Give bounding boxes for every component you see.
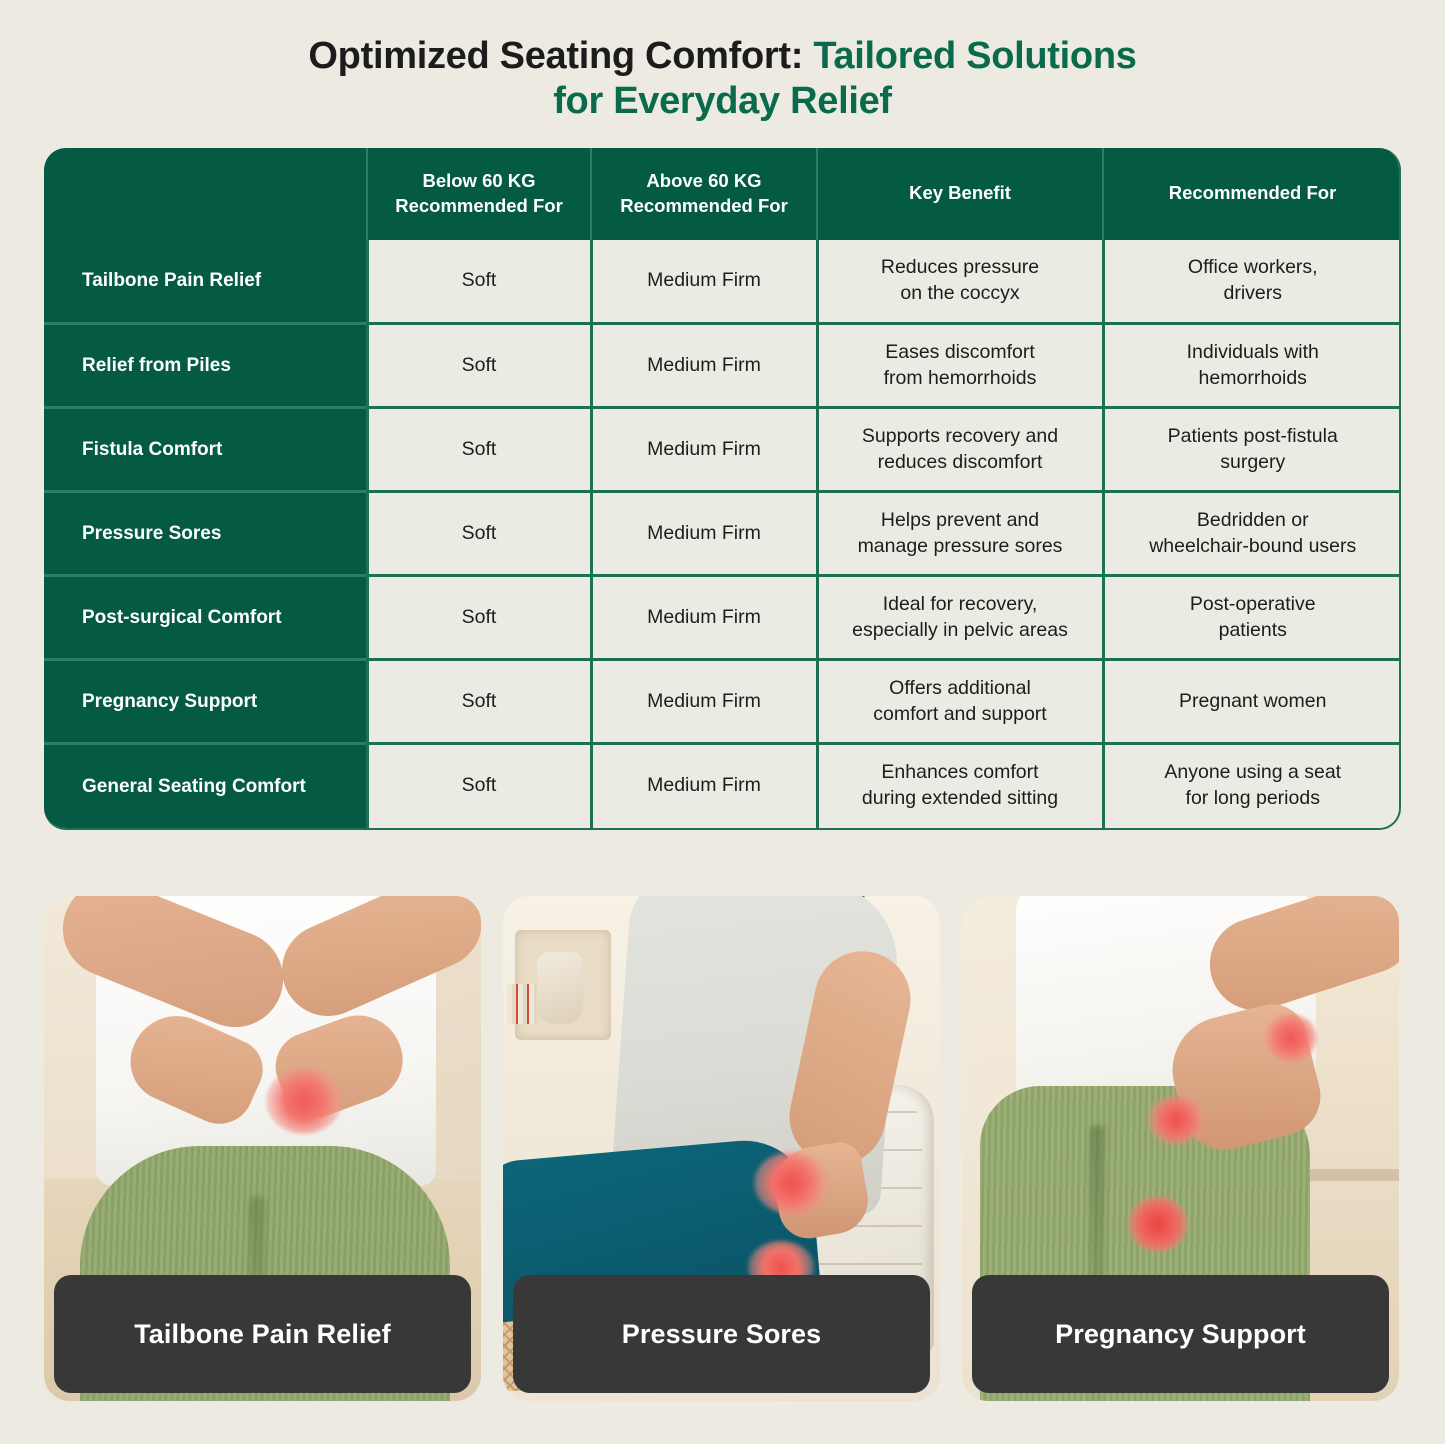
cell-key-benefit-line1: Eases discomfort [831,340,1090,366]
pain-marker-pelvis [1148,1096,1204,1144]
cell-key-benefit-line2: on the coccyx [831,281,1090,307]
table-header-row: Below 60 KG Recommended For Above 60 KG … [44,148,1401,240]
title-part-green: Tailored Solutions [803,35,1137,77]
column-header-recommended-for: Recommended For [1103,148,1401,240]
table-row: Fistula Comfort Soft Medium Firm Support… [44,408,1401,492]
column-header-above-60kg-line1: Above 60 KG [602,169,806,194]
cell-key-benefit-line2: especially in pelvic areas [831,618,1090,644]
cell-key-benefit-line1: Enhances comfort [831,760,1090,786]
cell-key-benefit: Eases discomfort from hemorrhoids [817,324,1103,408]
cell-key-benefit: Enhances comfort during extended sitting [817,744,1103,828]
decor-vase [537,952,583,1024]
column-header-below-60kg: Below 60 KG Recommended For [367,148,591,240]
column-header-above-60kg: Above 60 KG Recommended For [591,148,817,240]
cell-recommended-for-line2: wheelchair-bound users [1117,534,1390,560]
image-card-pregnancy-support: Pregnancy Support [962,896,1399,1401]
cell-recommended-for: Patients post-fistula surgery [1103,408,1401,492]
table-header: Below 60 KG Recommended For Above 60 KG … [44,148,1401,240]
card-caption: Tailbone Pain Relief [54,1275,471,1393]
cell-above-60kg: Medium Firm [591,660,817,744]
cell-above-60kg: Medium Firm [591,240,817,324]
column-header-below-60kg-line2: Recommended For [378,194,580,219]
comfort-table: Below 60 KG Recommended For Above 60 KG … [44,148,1401,828]
cell-recommended-for: Post-operative patients [1103,576,1401,660]
table-row: General Seating Comfort Soft Medium Firm… [44,744,1401,828]
cell-above-60kg: Medium Firm [591,576,817,660]
column-header-below-60kg-line1: Below 60 KG [378,169,580,194]
cell-key-benefit: Reduces pressure on the coccyx [817,240,1103,324]
cell-key-benefit-line1: Supports recovery and [831,424,1090,450]
cell-recommended-for-line1: Office workers, [1117,255,1390,281]
row-category-label: Pressure Sores [44,492,367,576]
table-body: Tailbone Pain Relief Soft Medium Firm Re… [44,240,1401,828]
cell-below-60kg: Soft [367,408,591,492]
row-category-label: Tailbone Pain Relief [44,240,367,324]
cell-above-60kg: Medium Firm [591,492,817,576]
image-card-pressure-sores: Pressure Sores [503,896,940,1401]
cell-recommended-for: Office workers, drivers [1103,240,1401,324]
cell-recommended-for-line1: Pregnant women [1117,689,1390,715]
cell-key-benefit-line2: reduces discomfort [831,450,1090,476]
table-row: Post-surgical Comfort Soft Medium Firm I… [44,576,1401,660]
cell-key-benefit-line1: Reduces pressure [831,255,1090,281]
image-card-row: Tailbone Pain Relief [44,896,1401,1401]
cell-below-60kg: Soft [367,240,591,324]
cell-recommended-for: Individuals with hemorrhoids [1103,324,1401,408]
cell-key-benefit-line2: from hemorrhoids [831,366,1090,392]
cell-key-benefit-line1: Ideal for recovery, [831,592,1090,618]
row-category-label: Relief from Piles [44,324,367,408]
cell-above-60kg: Medium Firm [591,324,817,408]
table-row: Tailbone Pain Relief Soft Medium Firm Re… [44,240,1401,324]
cell-key-benefit-line1: Offers additional [831,676,1090,702]
cell-recommended-for-line2: drivers [1117,281,1390,307]
cell-below-60kg: Soft [367,576,591,660]
card-caption: Pressure Sores [513,1275,930,1393]
cell-recommended-for-line1: Patients post-fistula [1117,424,1390,450]
cell-below-60kg: Soft [367,492,591,576]
cell-recommended-for-line2: hemorrhoids [1117,366,1390,392]
cell-key-benefit: Supports recovery and reduces discomfort [817,408,1103,492]
row-category-label: Post-surgical Comfort [44,576,367,660]
row-category-label: Fistula Comfort [44,408,367,492]
cell-recommended-for-line1: Individuals with [1117,340,1390,366]
row-category-label: General Seating Comfort [44,744,367,828]
cell-recommended-for-line2: patients [1117,618,1390,644]
column-header-category [44,148,367,240]
pain-marker-hip [1265,1014,1317,1062]
pain-marker-thigh [1128,1196,1188,1252]
card-caption: Pregnancy Support [972,1275,1389,1393]
title-part-dark: Optimized Seating Comfort: [308,35,803,77]
table-row: Relief from Piles Soft Medium Firm Eases… [44,324,1401,408]
cell-above-60kg: Medium Firm [591,744,817,828]
comfort-table-wrapper: Below 60 KG Recommended For Above 60 KG … [44,148,1401,830]
cell-recommended-for-line2: for long periods [1117,786,1390,812]
cell-recommended-for-line1: Anyone using a seat [1117,760,1390,786]
table-row: Pressure Sores Soft Medium Firm Helps pr… [44,492,1401,576]
cell-recommended-for-line1: Bedridden or [1117,508,1390,534]
title-line-2: for Everyday Relief [0,79,1445,124]
cell-key-benefit: Ideal for recovery, especially in pelvic… [817,576,1103,660]
cell-key-benefit-line2: during extended sitting [831,786,1090,812]
cell-recommended-for: Pregnant women [1103,660,1401,744]
image-card-tailbone-pain-relief: Tailbone Pain Relief [44,896,481,1401]
column-header-key-benefit: Key Benefit [817,148,1103,240]
row-category-label: Pregnancy Support [44,660,367,744]
cell-key-benefit-line2: comfort and support [831,702,1090,728]
cell-key-benefit-line2: manage pressure sores [831,534,1090,560]
pain-marker-lower-back [754,1152,828,1214]
column-header-above-60kg-line2: Recommended For [602,194,806,219]
cell-key-benefit-line1: Helps prevent and [831,508,1090,534]
table-row: Pregnancy Support Soft Medium Firm Offer… [44,660,1401,744]
cell-recommended-for: Anyone using a seat for long periods [1103,744,1401,828]
decor-books [507,984,537,1024]
title-line-1: Optimized Seating Comfort: Tailored Solu… [0,34,1445,79]
cell-recommended-for-line2: surgery [1117,450,1390,476]
cell-below-60kg: Soft [367,324,591,408]
cell-key-benefit: Helps prevent and manage pressure sores [817,492,1103,576]
infographic-page: Optimized Seating Comfort: Tailored Solu… [0,0,1445,1444]
page-title: Optimized Seating Comfort: Tailored Solu… [0,0,1445,124]
cell-recommended-for-line1: Post-operative [1117,592,1390,618]
cell-above-60kg: Medium Firm [591,408,817,492]
cell-below-60kg: Soft [367,744,591,828]
cell-recommended-for: Bedridden or wheelchair-bound users [1103,492,1401,576]
cell-below-60kg: Soft [367,660,591,744]
cell-key-benefit: Offers additional comfort and support [817,660,1103,744]
pain-marker-coccyx [266,1068,342,1134]
